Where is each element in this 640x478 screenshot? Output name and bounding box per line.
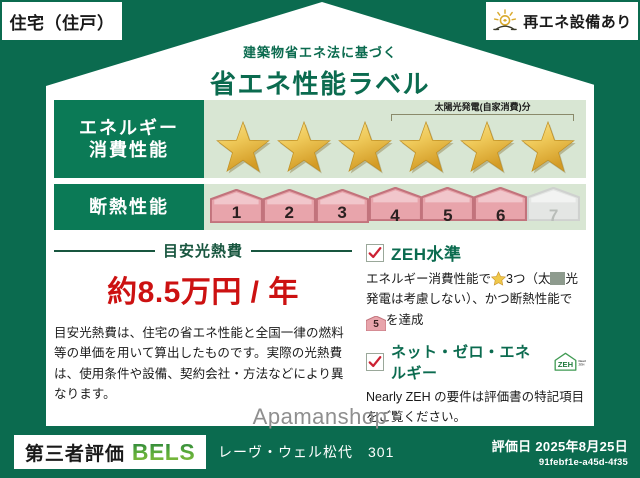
check-icon xyxy=(368,355,382,369)
zeh-standard-checkbox[interactable] xyxy=(366,244,384,262)
energy-label-line1: エネルギー xyxy=(79,117,179,140)
label-content: エネルギー 消費性能 太陽光発電(自家消費)分 断熱性能 1234567 xyxy=(54,100,586,420)
energy-label-line2: 消費性能 xyxy=(89,139,169,162)
insulation-performance-row: 断熱性能 1234567 xyxy=(54,184,586,230)
insulation-badge-value: 3 xyxy=(337,203,346,223)
svg-text:ZEH: ZEH xyxy=(558,359,573,368)
energy-performance-row: エネルギー 消費性能 太陽光発電(自家消費)分 xyxy=(54,100,586,178)
insulation-badge-4: 4 xyxy=(369,187,422,228)
bels-logo-text: BELS xyxy=(132,439,195,466)
zeh-netzero-description: Nearly ZEH の要件は評価書の特記項目をご覧ください。 xyxy=(366,387,586,428)
solar-generation-caption: 太陽光発電(自家消費)分 xyxy=(391,102,574,113)
insulation-badge-value: 7 xyxy=(549,206,558,226)
zeh-standard-group: ZEH水準 エネルギー消費性能で 3つ（太光発電は考慮しない）、かつ断熱性能で … xyxy=(366,240,586,331)
svg-text:ZEH: ZEH xyxy=(579,362,585,366)
utility-cost-column: 目安光熱費 約8.5万円 / 年 目安光熱費は、住宅の省エネ性能と全国一律の燃料… xyxy=(54,240,360,427)
zeh-standard-description: エネルギー消費性能で 3つ（太光発電は考慮しない）、かつ断熱性能で 5 を達成 xyxy=(366,269,586,331)
utility-cost-note: 目安光熱費は、住宅の省エネ性能と全国一律の燃料等の単価を用いて算出したものです。… xyxy=(54,323,352,404)
evaluation-date: 評価日 2025年8月25日 xyxy=(492,436,628,455)
label-footer: 第三者評価 BELS レーヴ・ウェル松代 301 評価日 2025年8月25日 … xyxy=(0,426,640,478)
rule-right xyxy=(251,250,352,252)
insulation-label-text: 断熱性能 xyxy=(89,196,169,219)
label-subtitle: 建築物省エネ法に基づく xyxy=(0,42,640,61)
zeh-logo-icon: ZEH Nearly ZEH xyxy=(553,349,586,375)
evaluation-info: 評価日 2025年8月25日 91febf1e-a45d-4f35 xyxy=(492,436,628,468)
star-icon xyxy=(214,120,272,176)
evaluation-id: 91febf1e-a45d-4f35 xyxy=(492,457,628,468)
renewable-equipment-tag: 再エネ設備あり xyxy=(486,2,638,40)
insulation-badge-6: 6 xyxy=(474,187,527,228)
insulation-badge-5: 5 xyxy=(421,187,474,228)
inline-star-icon xyxy=(491,271,506,286)
insulation-badge-7: 7 xyxy=(527,187,580,228)
insulation-badge-1: 1 xyxy=(210,189,263,225)
zeh-netzero-title: ネット・ゼロ・エネルギー xyxy=(391,341,542,383)
label-main-title: 省エネ性能ラベル xyxy=(0,64,640,101)
zeh-netzero-group: ネット・ゼロ・エネルギー ZEH Nearly ZEH Nearly ZEH の… xyxy=(366,341,586,428)
utility-cost-heading-text: 目安光熱費 xyxy=(163,240,243,261)
insulation-badge-value: 6 xyxy=(496,206,505,226)
insulation-badges-area: 1234567 xyxy=(204,184,586,230)
zeh-column: ZEH水準 エネルギー消費性能で 3つ（太光発電は考慮しない）、かつ断熱性能で … xyxy=(360,240,586,427)
renewable-equipment-tag-label: 再エネ設備あり xyxy=(523,11,632,32)
star-icon xyxy=(275,120,333,176)
energy-performance-label: 住宅（住戸） 再エネ設備あり 建築物省エネ法に基づく 省エネ性能ラベル xyxy=(0,0,640,478)
house-type-tag: 住宅（住戸） xyxy=(2,2,122,40)
zeh-standard-title: ZEH水準 xyxy=(391,240,462,265)
star-icon xyxy=(458,120,516,176)
redaction-mark xyxy=(550,272,565,285)
property-name: レーヴ・ウェル松代 301 xyxy=(218,442,394,462)
insulation-badge-value: 2 xyxy=(285,203,294,223)
insulation-badge-value: 1 xyxy=(232,203,241,223)
zeh-netzero-heading: ネット・ゼロ・エネルギー ZEH Nearly ZEH xyxy=(366,341,586,383)
bels-certification-box: 第三者評価 BELS xyxy=(14,435,206,469)
utility-cost-heading: 目安光熱費 xyxy=(54,240,352,261)
zeh-standard-heading: ZEH水準 xyxy=(366,240,586,265)
star-icon xyxy=(336,120,394,176)
house-type-tag-label: 住宅（住戸） xyxy=(10,9,115,34)
insulation-badge-value: 4 xyxy=(390,206,399,226)
insulation-badge-3: 3 xyxy=(316,189,369,225)
star-icon xyxy=(397,120,455,176)
inline-badge-value: 5 xyxy=(373,319,379,330)
insulation-badge-2: 2 xyxy=(263,189,316,225)
insulation-badge-value: 5 xyxy=(443,206,452,226)
zeh-desc-part-b: 3つ（太 xyxy=(506,272,550,286)
sun-icon xyxy=(492,8,518,34)
zeh-desc-part-d: を達成 xyxy=(386,313,424,327)
insulation-grade-badges: 1234567 xyxy=(210,184,580,230)
star-icon xyxy=(519,120,577,176)
energy-performance-stars-area: 太陽光発電(自家消費)分 xyxy=(204,100,586,178)
energy-performance-label-box: エネルギー 消費性能 xyxy=(54,100,204,178)
zeh-netzero-checkbox[interactable] xyxy=(366,353,384,371)
label-title-block: 建築物省エネ法に基づく 省エネ性能ラベル xyxy=(0,42,640,101)
lower-section: 目安光熱費 約8.5万円 / 年 目安光熱費は、住宅の省エネ性能と全国一律の燃料… xyxy=(54,240,586,427)
bels-japanese-label: 第三者評価 xyxy=(25,439,125,466)
check-icon xyxy=(368,246,382,260)
energy-star-rating xyxy=(212,120,578,176)
insulation-performance-label-box: 断熱性能 xyxy=(54,184,204,230)
rule-left xyxy=(54,250,155,252)
inline-grade-badge: 5 xyxy=(366,316,386,331)
zeh-desc-part-a: エネルギー消費性能で xyxy=(366,272,491,286)
utility-cost-value: 約8.5万円 / 年 xyxy=(54,267,352,311)
